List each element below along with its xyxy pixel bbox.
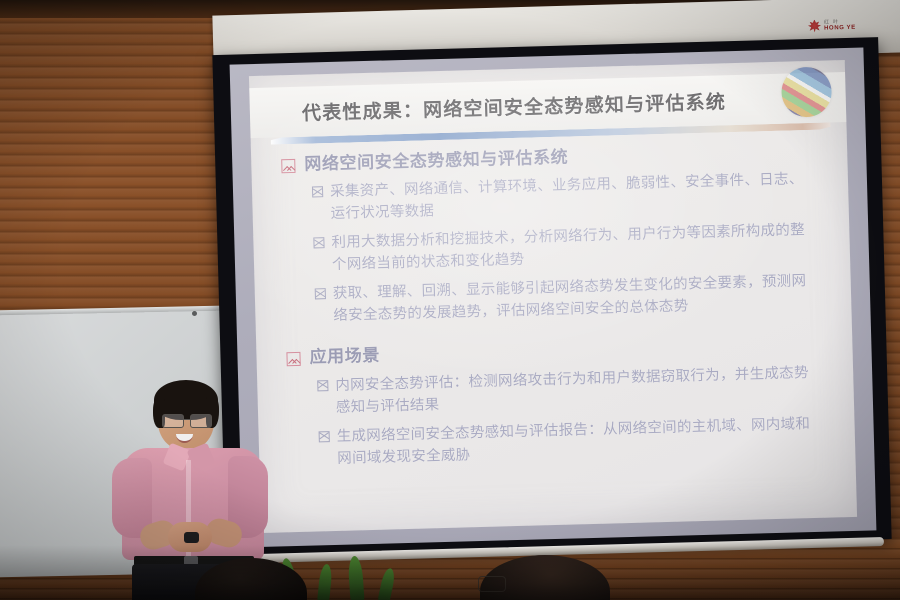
x-box-bullet-icon [317, 380, 328, 391]
slide-bullet: 生成网络空间安全态势感知与评估报告：从网络空间的主机域、网内域和网间域发现安全威… [318, 413, 821, 471]
lecture-room-photo: 红叶 HONG YE 代表性成果：网络空间安全态势感知与评估系统 网络空间安全态… [0, 0, 900, 600]
whiteboard-screw [192, 311, 197, 316]
slide-heading-label: 应用场景 [309, 346, 380, 369]
slide-bullet: 利用大数据分析和挖掘技术，分析网络行为、用户行为等因素所构成的整个网络当前的状态… [313, 219, 816, 277]
x-box-bullet-icon [319, 431, 330, 442]
x-box-bullet-icon [313, 237, 324, 248]
slide-bullet-label: 内网安全态势评估：检测网络攻击行为和用户数据窃取行为，并生成态势感知与评估结果 [335, 362, 820, 419]
x-box-bullet-icon [315, 289, 326, 300]
plant-leaf [378, 567, 397, 600]
slide-bullet-label: 利用大数据分析和挖掘技术，分析网络行为、用户行为等因素所构成的整个网络当前的状态… [331, 219, 816, 276]
maple-leaf-icon [808, 19, 821, 32]
caret-box-bullet-icon [286, 352, 300, 366]
plant-leaf [347, 556, 364, 600]
slide-bullet-label: 采集资产、网络通信、计算环境、业务应用、脆弱性、安全事件、日志、运行状况等数据 [330, 168, 815, 225]
screen-brand-badge: 红叶 HONG YE [808, 11, 887, 39]
plant-leaf [317, 563, 333, 600]
glasses-icon [162, 414, 212, 427]
glasses-lens-right [190, 414, 212, 428]
x-box-bullet-icon [312, 186, 323, 197]
slide-title: 代表性成果：网络空间安全态势感知与评估系统 [302, 87, 727, 125]
caret-box-bullet-icon [281, 159, 295, 173]
slide-bullet: 获取、理解、回溯、显示能够引起网络态势发生变化的安全要素，预测网络安全态势的发展… [315, 270, 818, 328]
glasses-lens-left [162, 414, 184, 428]
slide-heading-label: 网络空间安全态势感知与评估系统 [304, 148, 568, 176]
audience-glasses-icon [478, 576, 506, 592]
slide-bullet-label: 生成网络空间安全态势感知与评估报告：从网络空间的主机域、网内域和网间域发现安全威… [336, 413, 821, 470]
glasses-bridge [182, 419, 190, 420]
presentation-clicker [184, 532, 199, 543]
slide-bullet: 内网安全态势评估：检测网络攻击行为和用户数据窃取行为，并生成态势感知与评估结果 [317, 362, 820, 420]
slide-bullet: 采集资产、网络通信、计算环境、业务应用、脆弱性、安全事件、日志、运行状况等数据 [312, 168, 815, 226]
brand-label-en: HONG YE [824, 24, 856, 31]
slide-bullet-label: 获取、理解、回溯、显示能够引起网络态势发生变化的安全要素，预测网络安全态势的发展… [333, 270, 818, 327]
slide-body: 网络空间安全态势感知与评估系统 采集资产、网络通信、计算环境、业务应用、脆弱性、… [251, 140, 857, 533]
presentation-slide: 代表性成果：网络空间安全态势感知与评估系统 网络空间安全态势感知与评估系统 采集… [249, 60, 857, 533]
